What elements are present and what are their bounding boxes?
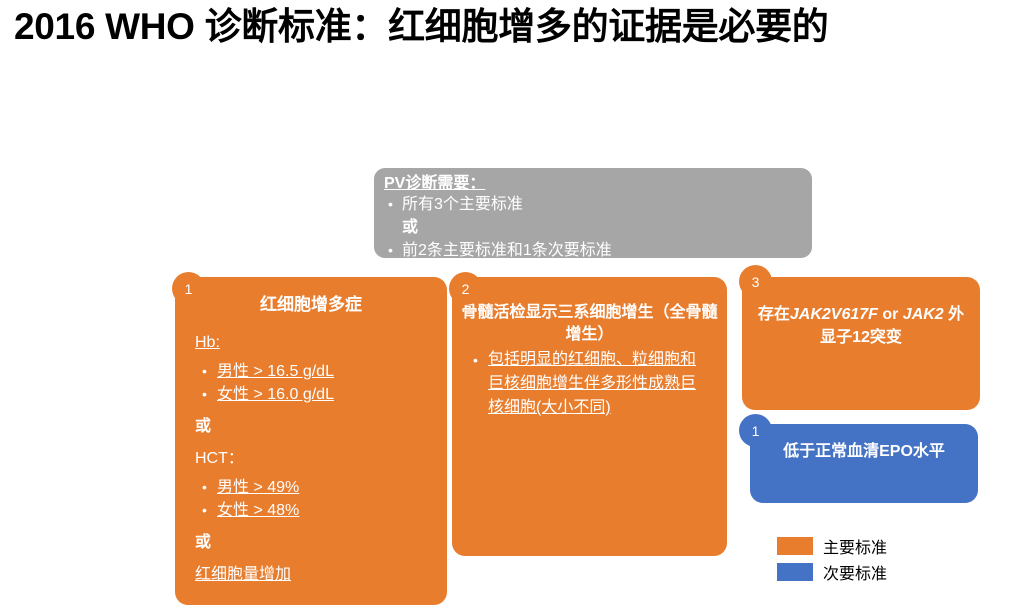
callout-list: 所有3个主要标准 [384,193,802,216]
page-title: 2016 WHO 诊断标准：红细胞增多的证据是必要的 [14,4,1022,50]
hct-list: 男性 > 49% 女性 > 48% [195,476,447,522]
jak2-gene-2: JAK2 [903,306,944,323]
callout-heading: PV诊断需要： [384,174,485,193]
major-criterion-3-panel: 存在JAK2V617F or JAK2 外显子12突变 [742,277,980,410]
hct-label: HCT： [195,448,447,470]
or-label-1: 或 [195,416,447,438]
red-cell-mass-label: 红细胞量增加 [195,564,291,586]
jak2-gene-1: JAK2V617F [790,306,878,323]
list-item: 女性 > 48% [217,499,447,522]
hb-label: Hb: [195,332,220,354]
legend-item-minor: 次要标准 [777,559,887,585]
panel-title: 红细胞增多症 [181,294,441,316]
panel-body: Hb: 男性 > 16.5 g/dL 女性 > 16.0 g/dL 或 HCT：… [195,332,447,586]
legend-swatch-orange-icon [777,537,813,555]
callout-list-2: 前2条主要标准和1条次要标准 [384,239,802,262]
list-item: 女性 > 16.0 g/dL [217,383,447,406]
legend-label: 次要标准 [823,560,887,584]
criterion-badge-2: 2 [449,272,482,305]
minor-criterion-badge-1: 1 [739,414,772,447]
legend-label: 主要标准 [823,534,887,558]
criterion-badge-3: 3 [739,265,772,298]
list-item: 男性 > 49% [217,476,447,499]
pv-diagnosis-requirement-callout: PV诊断需要： 所有3个主要标准 或 前2条主要标准和1条次要标准 [374,168,812,258]
panel-title: 骨髓活检显示三系细胞增生（全骨髓增生） [460,302,719,346]
panel-title: 低于正常血清EPO水平 [758,441,970,463]
major-criterion-2-panel: 骨髓活检显示三系细胞增生（全骨髓增生） 包括明显的红细胞、粒细胞和巨核细胞增生伴… [452,277,727,556]
legend-item-major: 主要标准 [777,533,887,559]
jak2-conjunction: or [878,306,903,323]
list-item: 前2条主要标准和1条次要标准 [402,239,802,262]
criterion-badge-1: 1 [172,272,205,305]
callout-or-label: 或 [384,216,802,239]
panel-body-list: 包括明显的红细胞、粒细胞和巨核细胞增生伴多形性成熟巨核细胞(大小不同) [452,348,717,420]
jak2-title-prefix: 存在 [758,306,790,323]
panel-title: 存在JAK2V617F or JAK2 外显子12突变 [752,303,970,349]
list-item: 所有3个主要标准 [402,193,802,216]
list-item: 男性 > 16.5 g/dL [217,360,447,383]
minor-criterion-1-panel: 低于正常血清EPO水平 [750,424,978,503]
legend: 主要标准 次要标准 [777,533,887,585]
or-label-2: 或 [195,532,447,554]
hb-list: 男性 > 16.5 g/dL 女性 > 16.0 g/dL [195,360,447,406]
major-criterion-1-panel: 红细胞增多症 Hb: 男性 > 16.5 g/dL 女性 > 16.0 g/dL… [175,277,447,605]
list-item: 包括明显的红细胞、粒细胞和巨核细胞增生伴多形性成熟巨核细胞(大小不同) [488,348,709,420]
legend-swatch-blue-icon [777,563,813,581]
